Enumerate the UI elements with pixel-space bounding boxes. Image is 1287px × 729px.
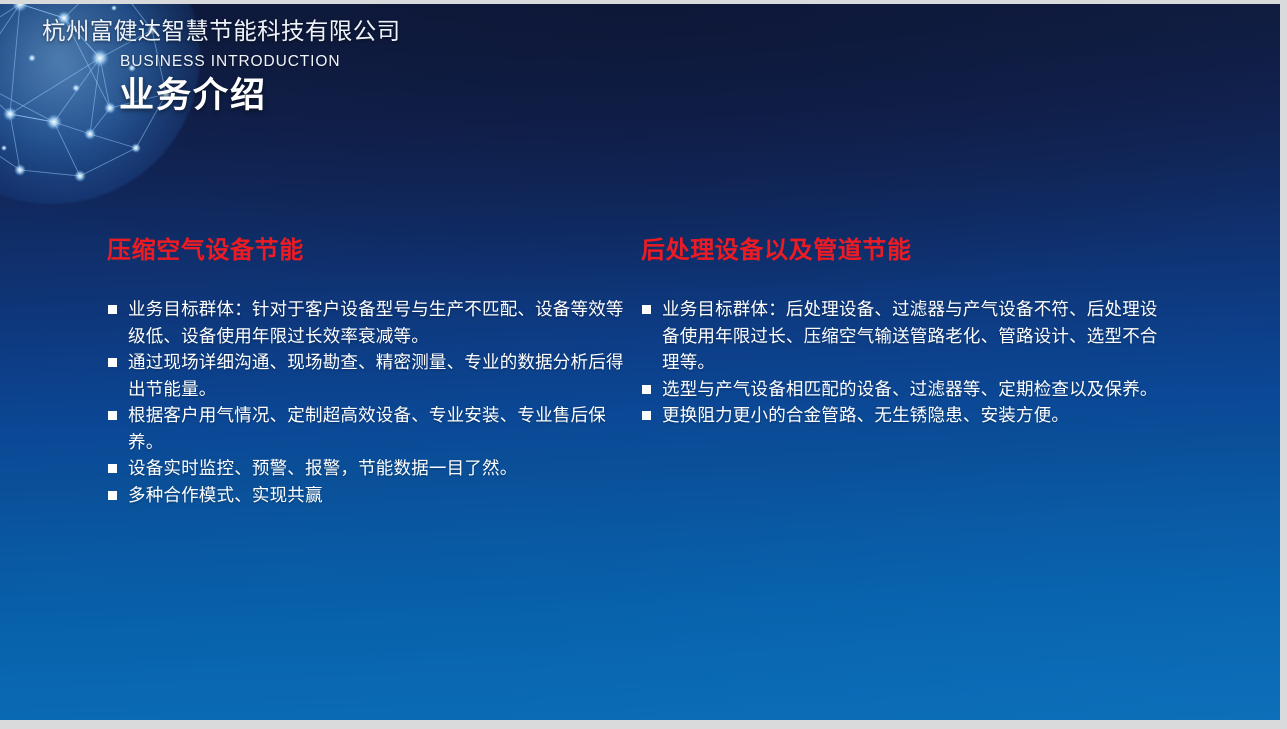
list-item: 业务目标群体：后处理设备、过滤器与产气设备不符、后处理设备使用年限过长、压缩空气… — [641, 296, 1161, 376]
list-item: 多种合作模式、实现共赢 — [107, 482, 627, 509]
content-column-right: 后处理设备以及管道节能 业务目标群体：后处理设备、过滤器与产气设备不符、后处理设… — [641, 236, 1161, 429]
page-margin-bottom — [0, 720, 1287, 729]
list-item: 业务目标群体：针对于客户设备型号与生产不匹配、设备等效等级低、设备使用年限过长效… — [107, 296, 627, 349]
page-margin-top — [0, 0, 1287, 4]
section-title-chinese: 业务介绍 — [119, 74, 267, 118]
list-item: 通过现场详细沟通、现场勘查、精密测量、专业的数据分析后得出节能量。 — [107, 349, 627, 402]
presentation-slide: 杭州富健达智慧节能科技有限公司 BUSINESS INTRODUCTION 业务… — [0, 4, 1280, 720]
section-subtitle-english: BUSINESS INTRODUCTION — [120, 52, 340, 72]
bullet-list-right: 业务目标群体：后处理设备、过滤器与产气设备不符、后处理设备使用年限过长、压缩空气… — [641, 296, 1161, 429]
content-column-left: 压缩空气设备节能 业务目标群体：针对于客户设备型号与生产不匹配、设备等效等级低、… — [107, 236, 627, 508]
list-item: 设备实时监控、预警、报警，节能数据一目了然。 — [107, 455, 627, 482]
list-item: 更换阻力更小的合金管路、无生锈隐患、安装方便。 — [641, 402, 1161, 429]
page-margin-right — [1280, 0, 1287, 729]
company-name: 杭州富健达智慧节能科技有限公司 — [42, 17, 401, 45]
column-heading-post-treatment: 后处理设备以及管道节能 — [641, 236, 1161, 266]
list-item: 选型与产气设备相匹配的设备、过滤器等、定期检查以及保养。 — [641, 376, 1161, 403]
bullet-list-left: 业务目标群体：针对于客户设备型号与生产不匹配、设备等效等级低、设备使用年限过长效… — [107, 296, 627, 508]
column-heading-compressed-air: 压缩空气设备节能 — [107, 236, 627, 266]
list-item: 根据客户用气情况、定制超高效设备、专业安装、专业售后保养。 — [107, 402, 627, 455]
